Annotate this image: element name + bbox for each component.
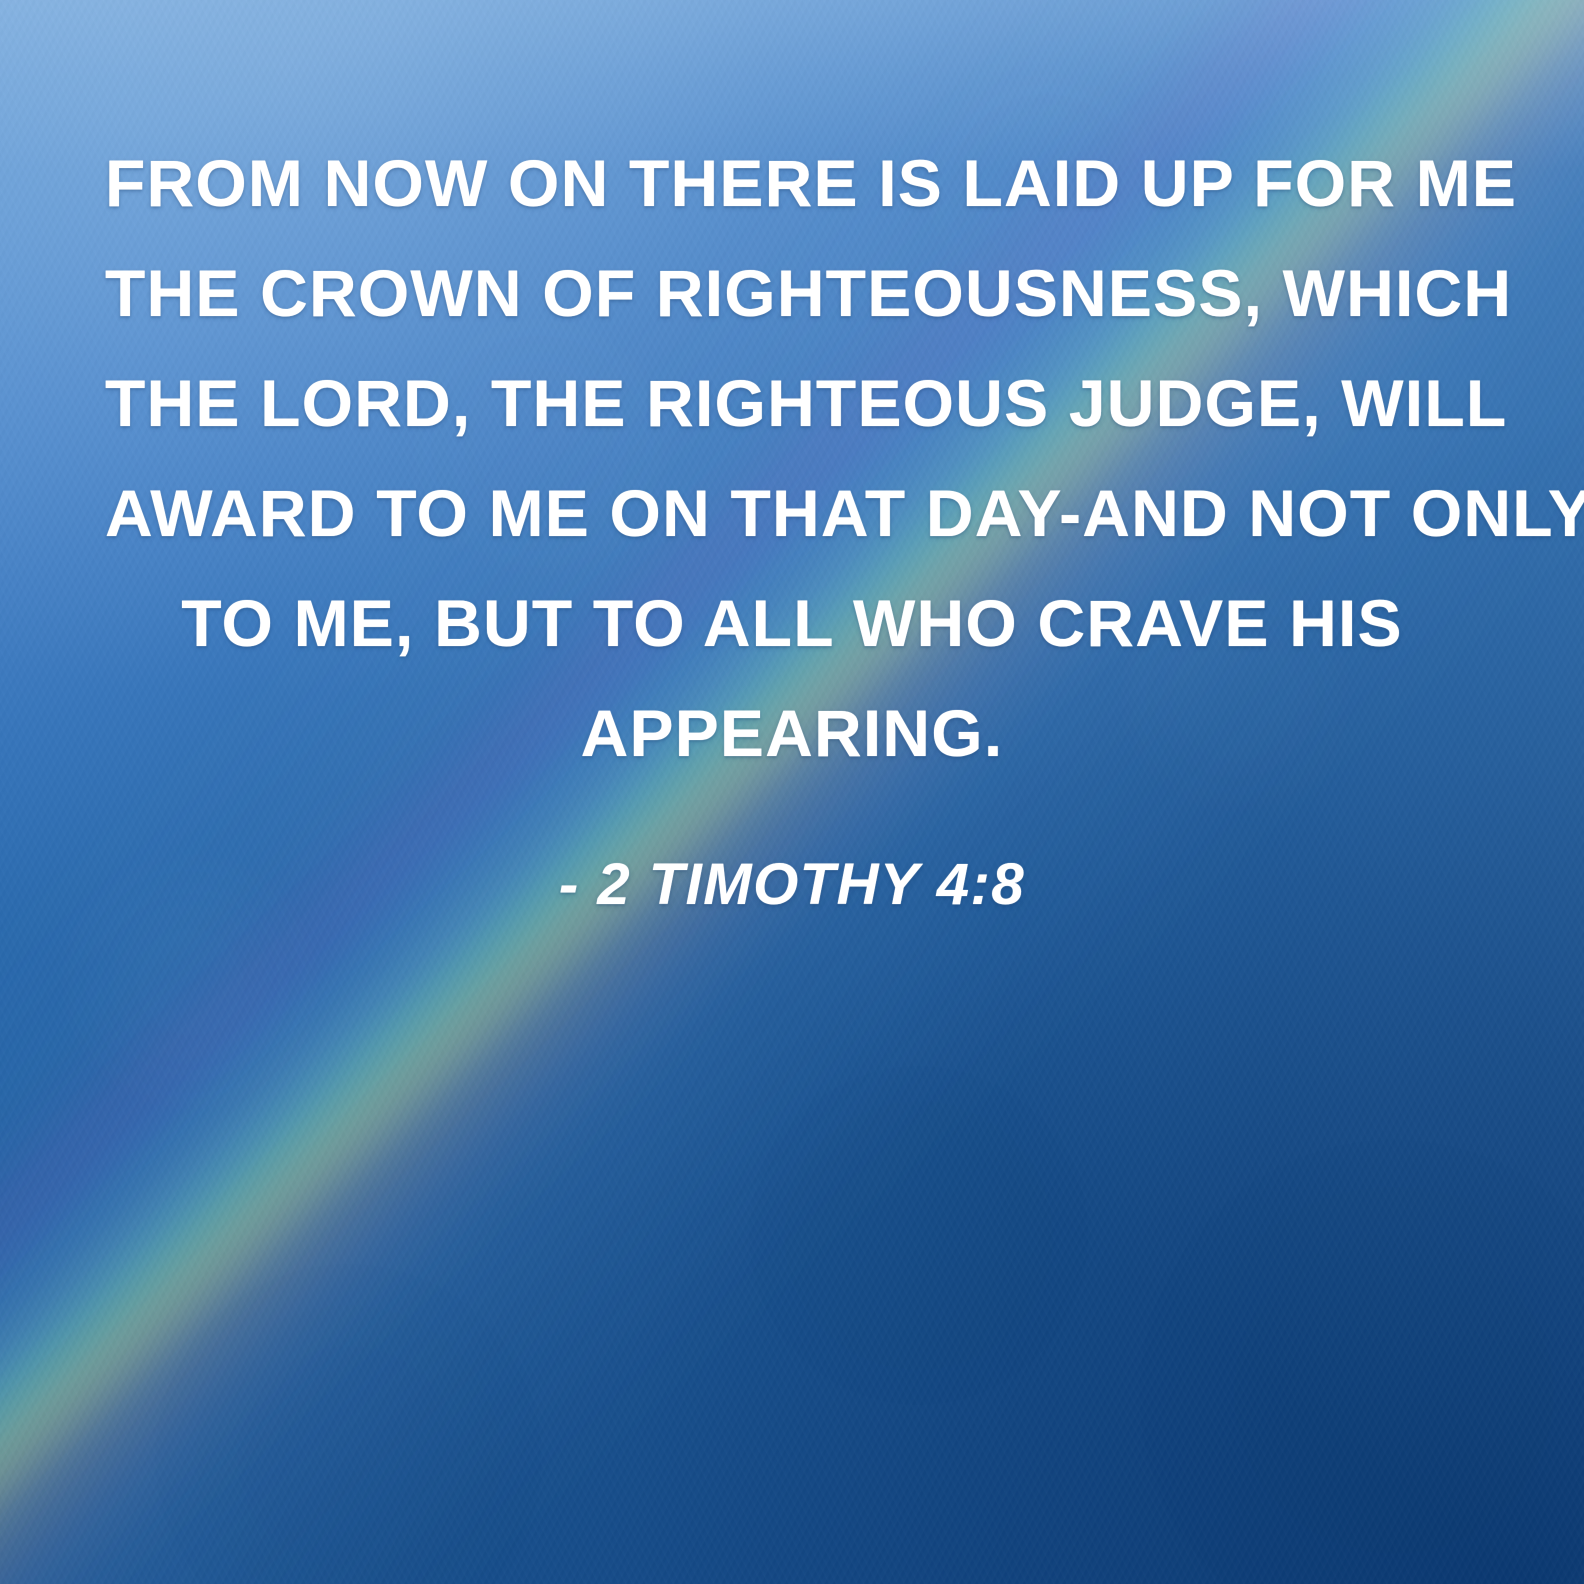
verse-text-block: From now on there is laid up for me the … (0, 128, 1584, 788)
verse-line-3: the Lord, the righteous judge, will (105, 348, 1479, 458)
verse-line-4: award to me on that day-and not only (105, 458, 1479, 568)
verse-line-5: to me, but to all who crave his (105, 568, 1479, 678)
verse-line-2: the crown of righteousness, which (105, 238, 1479, 348)
verse-attribution: - 2 Timothy 4:8 (0, 852, 1584, 918)
verse-line-6: appearing. (105, 678, 1479, 788)
scripture-image-canvas: From now on there is laid up for me the … (0, 0, 1584, 1584)
verse-line-1: From now on there is laid up for me (105, 128, 1479, 238)
